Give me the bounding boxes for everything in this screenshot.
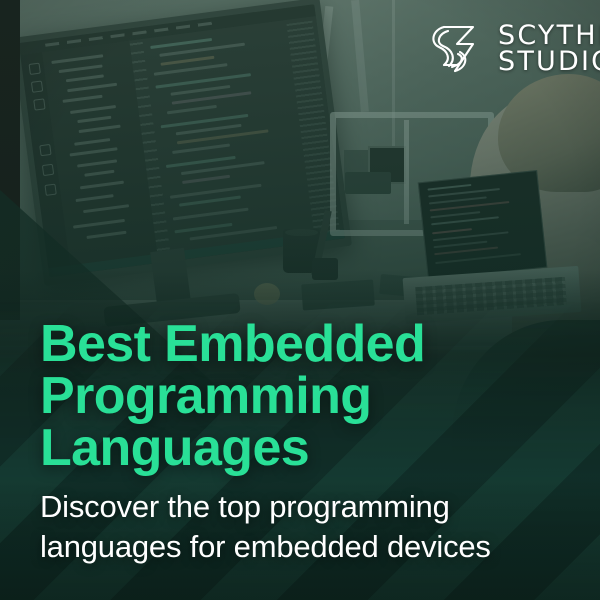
- social-card: SCYTHE STUDIO Best Embedded Programming …: [0, 0, 600, 600]
- headline-line-1: Best Embedded: [40, 318, 560, 370]
- page-subtitle: Discover the top programming languages f…: [40, 487, 580, 567]
- headline-line-3: Languages: [40, 422, 560, 474]
- brand-logo[interactable]: SCYTHE STUDIO: [424, 18, 600, 80]
- brand-name: SCYTHE STUDIO: [498, 23, 600, 75]
- subtitle-line-1: Discover the top programming: [40, 487, 580, 527]
- subtitle-line-2: languages for embedded devices: [40, 527, 580, 567]
- headline-line-2: Programming: [40, 370, 560, 422]
- brand-name-line2: STUDIO: [498, 49, 600, 75]
- page-title: Best Embedded Programming Languages: [40, 318, 560, 474]
- scythe-monogram-icon: [424, 18, 486, 80]
